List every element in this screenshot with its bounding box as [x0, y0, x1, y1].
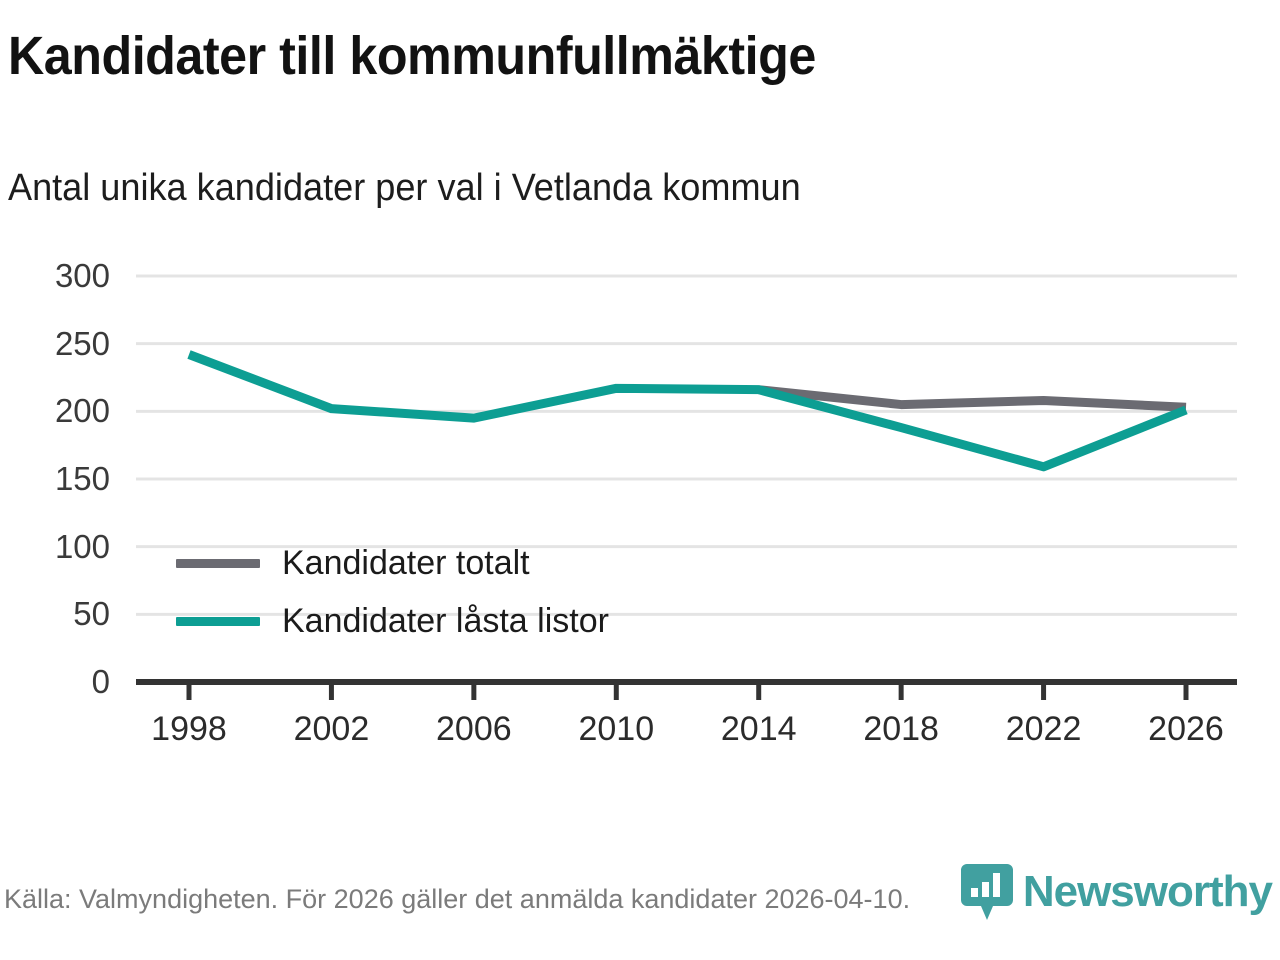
- legend-swatch-total: [176, 559, 260, 568]
- chart-legend: Kandidater totalt Kandidater låsta listo…: [176, 534, 609, 650]
- x-axis-tick-label: 2014: [721, 710, 797, 749]
- y-axis-tick-label: 200: [0, 392, 110, 430]
- chart-svg: [0, 0, 1280, 960]
- y-axis-tick-label: 250: [0, 325, 110, 363]
- legend-item-locked[interactable]: Kandidater låsta listor: [176, 592, 609, 650]
- y-axis-tick-label: 100: [0, 528, 110, 566]
- x-axis-tick-label: 1998: [151, 710, 227, 749]
- source-note: Källa: Valmyndigheten. För 2026 gäller d…: [4, 884, 910, 915]
- y-axis-tick-label: 150: [0, 460, 110, 498]
- y-axis-tick-label: 300: [0, 257, 110, 295]
- legend-label-locked: Kandidater låsta listor: [282, 602, 609, 641]
- x-axis-tick-label: 2018: [863, 710, 939, 749]
- x-axis-tick-label: 2022: [1006, 710, 1082, 749]
- x-axis-tick-label: 2002: [294, 710, 370, 749]
- y-axis-tick-label: 50: [0, 595, 110, 633]
- legend-swatch-locked: [176, 617, 260, 626]
- x-axis: [136, 682, 1237, 700]
- chart-page: Kandidater till kommunfullmäktige Antal …: [0, 0, 1280, 960]
- newsworthy-logo[interactable]: Newsworthy: [961, 862, 1272, 922]
- legend-label-total: Kandidater totalt: [282, 544, 530, 583]
- plot-area: [0, 0, 1280, 960]
- x-axis-tick-label: 2006: [436, 710, 512, 749]
- newsworthy-bubble-chart-icon: [961, 864, 1013, 920]
- x-axis-tick-label: 2026: [1148, 710, 1224, 749]
- x-axis-tick-label: 2010: [578, 710, 654, 749]
- legend-item-total[interactable]: Kandidater totalt: [176, 534, 609, 592]
- newsworthy-wordmark: Newsworthy: [1023, 870, 1272, 914]
- y-axis-tick-label: 0: [0, 663, 110, 701]
